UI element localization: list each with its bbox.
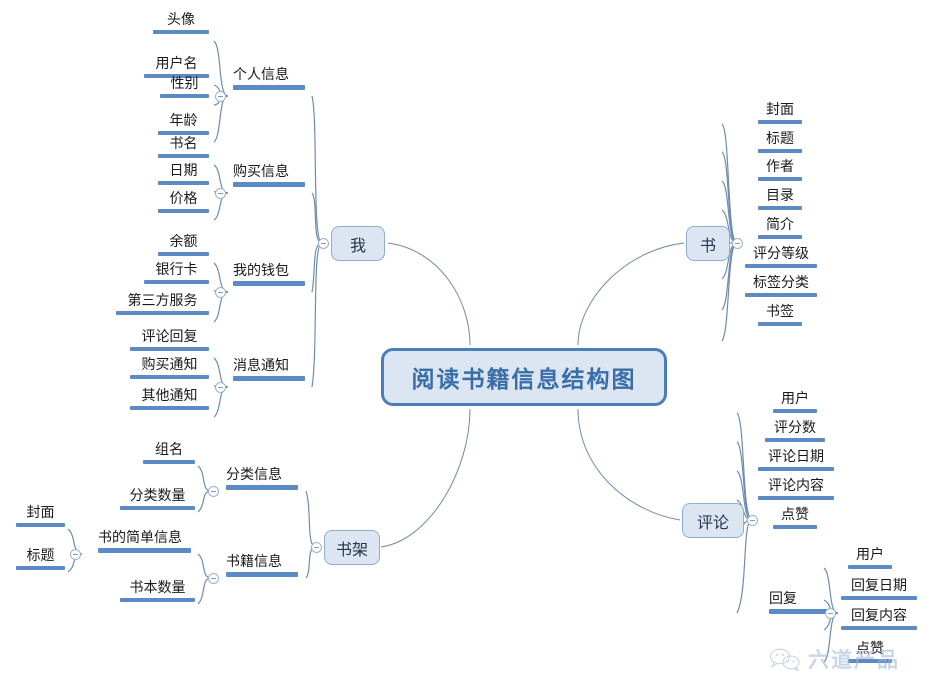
leaf-comment-user[interactable]: 用户 <box>770 392 820 415</box>
leaf-label: 评分数 <box>765 421 825 435</box>
underline-bar <box>848 565 892 569</box>
group-head-message-notify-label: 消息通知 <box>233 359 305 373</box>
leaf-date[interactable]: 日期 <box>155 164 212 187</box>
underline-bar <box>773 409 817 413</box>
underline-bar <box>16 566 65 570</box>
underline-bar <box>233 376 305 381</box>
leaf-comment-reply[interactable]: 评论回复 <box>127 330 212 353</box>
group-head-purchase-info[interactable]: 购买信息 <box>230 165 308 189</box>
underline-bar <box>143 460 195 464</box>
underline-bar <box>841 596 917 600</box>
underline-bar <box>233 281 305 286</box>
leaf-title-shelf[interactable]: 标题 <box>13 549 68 572</box>
toggle-category-info[interactable] <box>208 486 219 497</box>
leaf-comment-score[interactable]: 评分数 <box>762 421 828 444</box>
underline-bar <box>745 293 817 297</box>
leaf-label: 点赞 <box>848 642 892 656</box>
group-head-book-info-label: 书籍信息 <box>226 555 298 569</box>
mindmap-canvas: 阅读书籍信息结构图 我 书架 书 评论 个人信息 购买信息 我的钱包 消息通知 … <box>0 0 937 690</box>
underline-bar <box>758 322 802 326</box>
leaf-other-notify[interactable]: 其他通知 <box>127 389 212 412</box>
leaf-book-name[interactable]: 书名 <box>155 137 212 160</box>
underline-bar <box>758 467 834 471</box>
leaf-book-count[interactable]: 书本数量 <box>117 581 198 604</box>
leaf-book-tag-category[interactable]: 标签分类 <box>742 276 820 299</box>
leaf-label: 评论回复 <box>130 330 209 344</box>
underline-bar <box>758 235 802 239</box>
underline-bar <box>758 177 802 181</box>
group-head-simple-book-info-label: 书的简单信息 <box>98 531 191 545</box>
leaf-label: 头像 <box>153 13 209 27</box>
toggle-comment[interactable] <box>747 515 758 526</box>
underline-bar <box>233 182 305 187</box>
leaf-label: 评分等级 <box>745 247 817 261</box>
underline-bar <box>769 609 833 614</box>
group-head-message-notify[interactable]: 消息通知 <box>230 359 308 383</box>
underline-bar <box>758 120 802 124</box>
leaf-comment-content[interactable]: 评论内容 <box>755 479 837 502</box>
group-head-book-info[interactable]: 书籍信息 <box>223 555 301 579</box>
underline-bar <box>153 30 209 34</box>
underline-bar <box>158 209 209 213</box>
underline-bar <box>848 659 892 663</box>
leaf-price[interactable]: 价格 <box>155 192 212 215</box>
group-head-my-wallet-label: 我的钱包 <box>233 264 305 278</box>
leaf-book-author[interactable]: 作者 <box>755 160 805 183</box>
leaf-label: 点赞 <box>773 508 817 522</box>
leaf-label: 性别 <box>160 77 209 91</box>
underline-bar <box>765 438 825 442</box>
leaf-label: 书本数量 <box>120 581 195 595</box>
leaf-label: 余额 <box>158 235 209 249</box>
group-head-category-info[interactable]: 分类信息 <box>223 468 301 492</box>
group-head-personal-info-label: 个人信息 <box>233 68 305 82</box>
toggle-purchase-info[interactable] <box>215 188 226 199</box>
leaf-balance[interactable]: 余额 <box>155 235 212 258</box>
leaf-label: 简介 <box>758 218 802 232</box>
leaf-group-name[interactable]: 组名 <box>140 443 198 466</box>
underline-bar <box>130 406 209 410</box>
group-head-my-wallet[interactable]: 我的钱包 <box>230 264 308 288</box>
underline-bar <box>233 85 305 90</box>
branch-node-book[interactable]: 书 <box>686 226 730 261</box>
leaf-label: 标题 <box>758 132 802 146</box>
underline-bar <box>158 181 209 185</box>
leaf-label: 回复内容 <box>841 609 917 623</box>
underline-bar <box>773 525 817 529</box>
underline-bar <box>16 523 65 527</box>
leaf-label: 年龄 <box>158 114 209 128</box>
toggle-personal-info[interactable] <box>215 91 226 102</box>
leaf-book-title[interactable]: 标题 <box>755 132 805 155</box>
group-head-simple-book-info[interactable]: 书的简单信息 <box>95 531 194 555</box>
underline-bar <box>98 548 191 553</box>
group-head-purchase-info-label: 购买信息 <box>233 165 305 179</box>
underline-bar <box>158 154 209 158</box>
leaf-label: 价格 <box>158 192 209 206</box>
leaf-label: 用户名 <box>144 57 209 71</box>
leaf-reply-like[interactable]: 点赞 <box>845 642 895 665</box>
leaf-reply-date[interactable]: 回复日期 <box>838 579 920 602</box>
leaf-label: 回复日期 <box>841 579 917 593</box>
root-node[interactable]: 阅读书籍信息结构图 <box>381 348 667 406</box>
leaf-purchase-notify[interactable]: 购买通知 <box>127 358 212 381</box>
wechat-icon <box>768 646 802 672</box>
leaf-label: 其他通知 <box>130 389 209 403</box>
leaf-avatar[interactable]: 头像 <box>150 13 212 36</box>
leaf-label: 日期 <box>158 164 209 178</box>
underline-bar <box>144 280 209 284</box>
underline-bar <box>226 485 298 490</box>
underline-bar <box>116 311 209 315</box>
toggle-my-wallet[interactable] <box>215 287 226 298</box>
leaf-label: 用户 <box>773 392 817 406</box>
underline-bar <box>758 149 802 153</box>
leaf-book-summary[interactable]: 简介 <box>755 218 805 241</box>
branch-node-comment[interactable]: 评论 <box>682 503 744 538</box>
leaf-label: 用户 <box>848 548 892 562</box>
toggle-reply[interactable] <box>825 608 836 619</box>
leaf-bank-card[interactable]: 银行卡 <box>141 263 212 286</box>
leaf-book-toc[interactable]: 目录 <box>755 189 805 212</box>
leaf-book-rating-level[interactable]: 评分等级 <box>742 247 820 270</box>
toggle-message-notify[interactable] <box>215 382 226 393</box>
leaf-label: 书名 <box>158 137 209 151</box>
leaf-label: 作者 <box>758 160 802 174</box>
underline-bar <box>758 206 802 210</box>
leaf-label: 分类数量 <box>120 489 195 503</box>
leaf-category-count[interactable]: 分类数量 <box>117 489 198 512</box>
leaf-label: 书签 <box>758 305 802 319</box>
leaf-label: 组名 <box>143 443 195 457</box>
underline-bar <box>745 264 817 268</box>
leaf-label: 封面 <box>16 506 65 520</box>
leaf-label: 第三方服务 <box>116 294 209 308</box>
underline-bar <box>130 375 209 379</box>
underline-bar <box>841 626 917 630</box>
leaf-age[interactable]: 年龄 <box>155 114 212 137</box>
underline-bar <box>158 131 209 135</box>
leaf-label: 银行卡 <box>144 263 209 277</box>
leaf-label: 封面 <box>758 103 802 117</box>
underline-bar <box>120 598 195 602</box>
leaf-third-party-service[interactable]: 第三方服务 <box>113 294 212 317</box>
branch-node-bookshelf[interactable]: 书架 <box>324 530 380 565</box>
leaf-label: 评论内容 <box>758 479 834 493</box>
branch-node-me[interactable]: 我 <box>331 226 385 261</box>
toggle-simple-book-info[interactable] <box>70 549 81 560</box>
toggle-bookshelf[interactable] <box>311 542 322 553</box>
leaf-cover-shelf[interactable]: 封面 <box>13 506 68 529</box>
group-head-reply-label: 回复 <box>769 592 833 606</box>
underline-bar <box>158 252 209 256</box>
leaf-book-bookmark[interactable]: 书签 <box>755 305 805 328</box>
underline-bar <box>130 347 209 351</box>
toggle-me[interactable] <box>318 238 329 249</box>
group-head-category-info-label: 分类信息 <box>226 468 298 482</box>
leaf-book-cover[interactable]: 封面 <box>755 103 805 126</box>
leaf-reply-content[interactable]: 回复内容 <box>838 609 920 632</box>
leaf-label: 标题 <box>16 549 65 563</box>
leaf-label: 评论日期 <box>758 450 834 464</box>
leaf-gender[interactable]: 性别 <box>157 77 212 100</box>
underline-bar <box>160 94 209 98</box>
underline-bar <box>120 506 195 510</box>
group-head-personal-info[interactable]: 个人信息 <box>230 68 308 92</box>
underline-bar <box>226 572 298 577</box>
leaf-label: 购买通知 <box>130 358 209 372</box>
leaf-reply-user[interactable]: 用户 <box>845 548 895 571</box>
underline-bar <box>758 496 834 500</box>
leaf-label: 标签分类 <box>745 276 817 290</box>
toggle-book-info[interactable] <box>208 573 219 584</box>
leaf-comment-like[interactable]: 点赞 <box>770 508 820 531</box>
leaf-label: 目录 <box>758 189 802 203</box>
leaf-comment-date[interactable]: 评论日期 <box>755 450 837 473</box>
